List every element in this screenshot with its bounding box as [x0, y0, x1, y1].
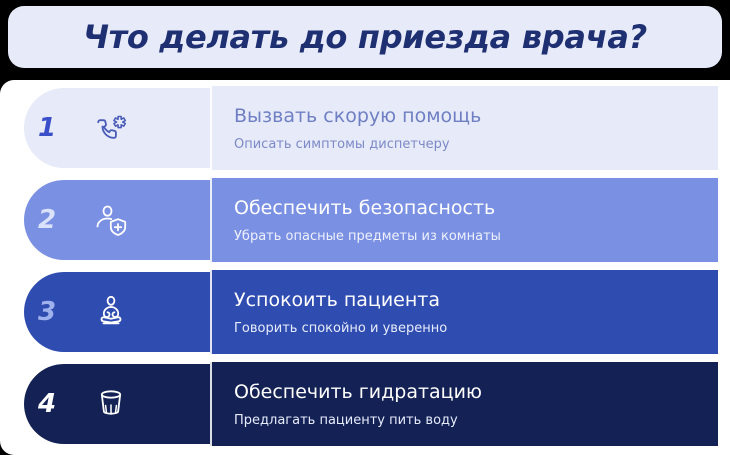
step-title-1: Вызвать скорую помощь	[234, 104, 718, 128]
step-body-3: Успокоить пациента Говорить спокойно и у…	[210, 270, 718, 354]
page-title: Что делать до приезда врача?	[83, 18, 647, 56]
step-body-1: Вызвать скорую помощь Описать симптомы д…	[210, 86, 718, 170]
step-subtitle-3: Говорить спокойно и уверенно	[234, 321, 718, 337]
step-title-2: Обеспечить безопасность	[234, 196, 718, 220]
step-row[interactable]: 2 Обеспечить безопасность Убрать опасные…	[0, 178, 718, 262]
phone-medical-icon	[84, 101, 138, 155]
step-number-4: 4	[10, 389, 84, 419]
drinking-glass-icon	[84, 377, 138, 431]
step-body-2: Обеспечить безопасность Убрать опасные п…	[210, 178, 718, 262]
step-number-1: 1	[10, 113, 84, 143]
step-subtitle-2: Убрать опасные предметы из комнаты	[234, 229, 718, 245]
step-pill-1: 1	[22, 86, 210, 170]
step-number-2: 2	[10, 205, 84, 235]
step-body-4: Обеспечить гидратацию Предлагать пациент…	[210, 362, 718, 446]
step-title-4: Обеспечить гидратацию	[234, 380, 718, 404]
step-row[interactable]: 4 Обеспечить гидратацию Предлагать пацие…	[0, 362, 718, 446]
step-pill-2: 2	[22, 178, 210, 262]
step-number-3: 3	[10, 297, 84, 327]
steps-card: 1 Вызвать скорую помощь Описать симптомы…	[0, 80, 730, 455]
step-row[interactable]: 3 Успокоить пациента Говорить спокойно и…	[0, 270, 718, 354]
step-subtitle-4: Предлагать пациенту пить воду	[234, 413, 718, 429]
step-pill-4: 4	[22, 362, 210, 446]
step-title-3: Успокоить пациента	[234, 288, 718, 312]
step-row[interactable]: 1 Вызвать скорую помощь Описать симптомы…	[0, 86, 718, 170]
step-pill-3: 3	[22, 270, 210, 354]
person-shield-plus-icon	[84, 193, 138, 247]
header-banner: Что делать до приезда врача?	[8, 6, 722, 68]
meditation-icon	[84, 285, 138, 339]
step-subtitle-1: Описать симптомы диспетчеру	[234, 137, 718, 153]
